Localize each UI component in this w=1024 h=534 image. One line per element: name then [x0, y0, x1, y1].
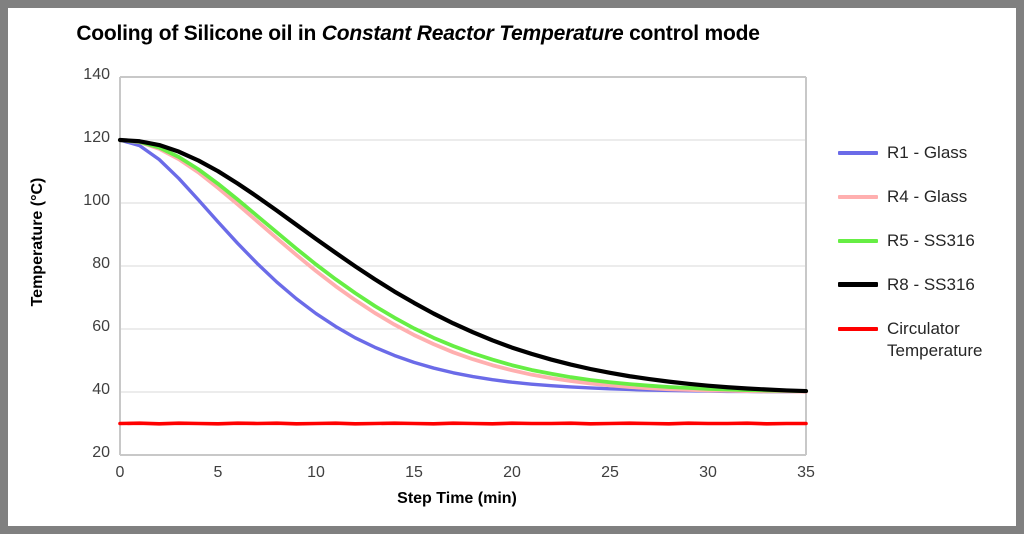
x-tick-label: 15	[394, 464, 434, 482]
x-tick-label: 0	[100, 464, 140, 482]
x-tick-label: 25	[590, 464, 630, 482]
x-axis-title: Step Time (min)	[112, 490, 802, 508]
legend-item[interactable]: R5 - SS316	[838, 230, 1013, 252]
chart-frame: Cooling of Silicone oil in Constant Reac…	[0, 0, 1024, 534]
legend-swatch-icon	[838, 195, 878, 199]
legend-swatch-icon	[838, 151, 878, 155]
y-tick-label: 40	[66, 381, 110, 399]
x-tick-label: 10	[296, 464, 336, 482]
legend-swatch-icon	[838, 327, 878, 331]
legend-item[interactable]: R1 - Glass	[838, 142, 1013, 164]
legend-item-label: R8 - SS316	[887, 274, 975, 296]
x-tick-label: 5	[198, 464, 238, 482]
y-tick-label: 100	[66, 192, 110, 210]
legend-item-label: R4 - Glass	[887, 186, 967, 208]
legend-item[interactable]: R4 - Glass	[838, 186, 1013, 208]
legend-swatch-icon	[838, 239, 878, 243]
legend-item-label: Circulator Temperature	[887, 318, 1009, 362]
chart-legend: R1 - GlassR4 - GlassR5 - SS316R8 - SS316…	[838, 142, 1013, 384]
legend-swatch-icon	[838, 282, 878, 287]
chart-canvas: Cooling of Silicone oil in Constant Reac…	[8, 8, 1016, 526]
legend-item[interactable]: R8 - SS316	[838, 274, 1013, 296]
x-tick-label: 20	[492, 464, 532, 482]
legend-item[interactable]: Circulator Temperature	[838, 318, 1013, 362]
y-tick-label: 20	[66, 444, 110, 462]
y-tick-label: 80	[66, 255, 110, 273]
series-line-5	[120, 423, 806, 424]
y-tick-label: 120	[66, 129, 110, 147]
legend-item-label: R1 - Glass	[887, 142, 967, 164]
y-tick-label: 60	[66, 318, 110, 336]
y-tick-label: 140	[66, 66, 110, 84]
legend-item-label: R5 - SS316	[887, 230, 975, 252]
x-tick-label: 35	[786, 464, 826, 482]
y-axis-title: Temperature (°C)	[29, 152, 47, 332]
x-tick-label: 30	[688, 464, 728, 482]
